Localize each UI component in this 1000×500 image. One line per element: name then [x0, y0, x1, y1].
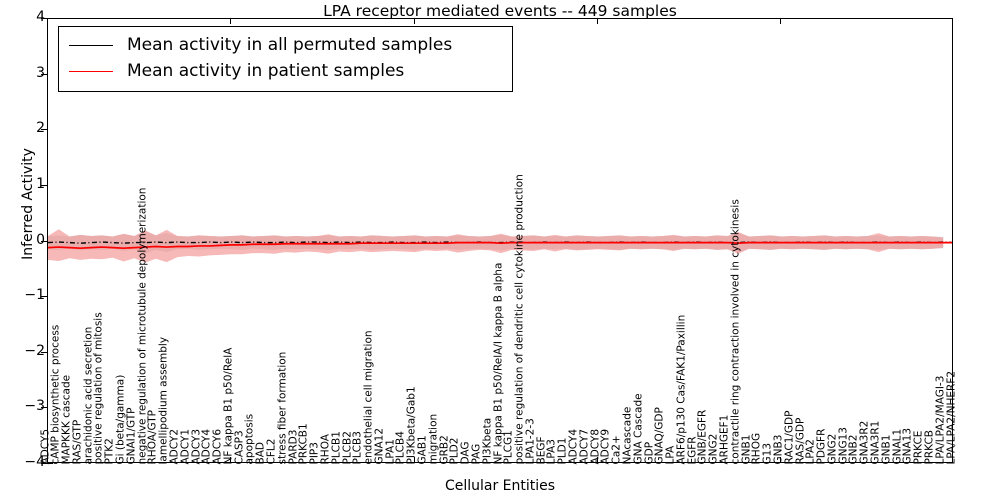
x-tick-label: ADCY1 — [180, 428, 191, 464]
x-tick-label: migration — [428, 413, 439, 464]
x-tick-label: PRKCB — [924, 430, 935, 464]
y-tick-label: 1 — [11, 176, 45, 192]
x-tick-label: NF kappa B1 p50/RelA — [223, 347, 234, 464]
x-tick-label: GNA3R1 — [871, 420, 882, 464]
x-tick-label: ADCY7 — [579, 428, 590, 464]
x-tick-label: PAG — [471, 443, 482, 464]
x-tick-label: GNG2 — [827, 433, 838, 464]
y-tick-label: 2 — [11, 120, 45, 136]
y-tick-label: 0 — [11, 232, 45, 248]
y-tick-label: −3 — [11, 398, 45, 414]
x-tick-mark-top — [780, 18, 781, 24]
x-tick-mark-top — [47, 18, 48, 24]
x-tick-label: contractile ring contraction involved in… — [730, 199, 741, 464]
legend-item-patient: Mean activity in patient samples — [69, 58, 500, 84]
legend-item-permuted: Mean activity in all permuted samples — [69, 32, 500, 58]
figure: LPA receptor mediated events -- 449 samp… — [0, 0, 1000, 500]
legend-swatch-patient — [69, 71, 113, 72]
x-tick-label: LPA1-2-3 — [525, 418, 536, 464]
x-tick-label: PI3Kbeta — [482, 417, 493, 464]
x-tick-label: MAPKKK cascade — [62, 374, 73, 464]
legend-swatch-permuted — [69, 45, 113, 46]
x-tick-label: GNB1 — [881, 434, 892, 464]
y-tick-label: −2 — [11, 343, 45, 359]
x-tick-mark-top — [597, 18, 598, 24]
x-tick-label: CFL2 — [267, 438, 278, 464]
x-tick-label: GNA Cascade — [633, 393, 644, 464]
x-tick-label: positive regulation of dendritic cell cy… — [515, 174, 526, 464]
x-tick-label: RAS/GTP — [72, 419, 83, 464]
x-tick-label: GNB3 — [773, 434, 784, 464]
x-tick-label: stress fiber formation — [277, 351, 288, 464]
x-tick-mark-top — [414, 18, 415, 24]
x-tick-label: ADCY2 — [169, 428, 180, 464]
x-tick-label: ARF6/p130 Cas/FAK1/Paxillin — [676, 314, 687, 464]
y-tick-label: 4 — [11, 9, 45, 25]
x-tick-label: GNAI1/GTP — [126, 407, 137, 464]
x-tick-label: LPA — [666, 445, 677, 464]
x-tick-label: ADCY4 — [569, 428, 580, 464]
y-tick-label: −1 — [11, 287, 45, 303]
x-tick-label: RAC1/GDP — [784, 410, 795, 464]
x-tick-label: ARHGEF1 — [720, 414, 731, 464]
x-tick-mark-top — [230, 18, 231, 24]
x-axis-label: Cellular Entities — [0, 478, 1000, 494]
x-tick-label: GNA12 — [374, 427, 385, 464]
x-tick-label: LPA/LPA2/NHERF2 — [946, 370, 957, 464]
x-tick-label: PLCB1 — [331, 431, 342, 464]
x-tick-label: RHOA — [320, 434, 331, 464]
y-axis-label: Inferred Activity — [20, 124, 36, 284]
x-tick-label: endothelial cell migration — [364, 330, 375, 464]
x-tick-label: LPA/LPA2/MAGI-3 — [935, 375, 946, 464]
x-tick-label: ADCY6 — [213, 428, 224, 464]
x-tick-label: PDGFR — [817, 428, 828, 464]
legend-label-permuted: Mean activity in all permuted samples — [127, 35, 452, 55]
y-tick-label: 3 — [11, 65, 45, 81]
x-tick-label: Gi (beta/gamma) — [116, 374, 127, 464]
x-tick-label: NAcascade — [622, 406, 633, 464]
legend-label-patient: Mean activity in patient samples — [127, 61, 404, 81]
x-tick-label: GAB1 — [418, 435, 429, 464]
legend: Mean activity in all permuted samples Me… — [58, 26, 513, 92]
